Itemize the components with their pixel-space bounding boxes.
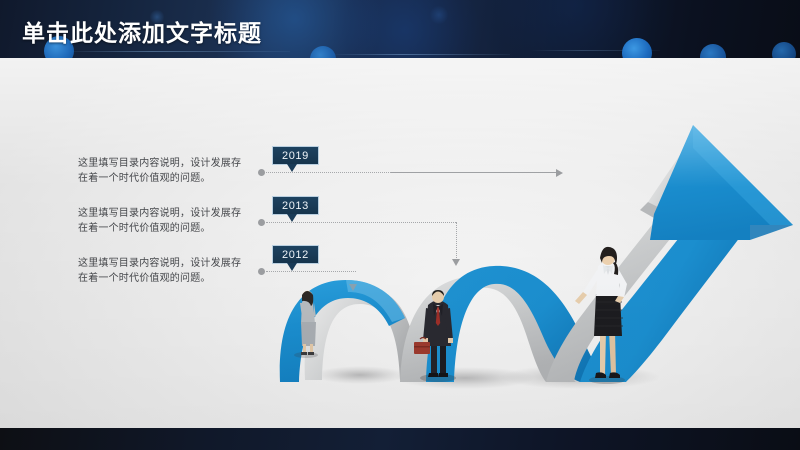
connector-dotted-1	[266, 172, 391, 174]
connector-solid-1	[391, 172, 558, 173]
slide-header: 单击此处添加文字标题	[0, 0, 800, 58]
header-bokeh-2	[310, 46, 336, 58]
year-tag-tail-1	[287, 164, 297, 172]
slide-canvas: 这里填写目录内容说明，设计发展存在着一个时代价值观的问题。 2019 这里填写目…	[0, 0, 800, 450]
header-bokeh-faint-2	[430, 6, 448, 24]
connector-dotted-2	[266, 222, 456, 224]
year-tag-2013[interactable]: 2013	[272, 196, 319, 215]
year-tag-label-2: 2013	[282, 200, 309, 212]
year-tag-tail-3	[287, 263, 297, 271]
year-tag-label-1: 2019	[282, 150, 309, 162]
year-tag-2012[interactable]: 2012	[272, 245, 319, 264]
year-tag-2019[interactable]: 2019	[272, 146, 319, 165]
connector-dot-1	[258, 169, 265, 176]
connector-arrow-down-2	[452, 259, 460, 266]
header-streak-1	[60, 51, 290, 52]
connector-dotted-3	[266, 271, 356, 273]
year-tag-label-3: 2012	[282, 249, 309, 261]
timeline-description-3: 这里填写目录内容说明，设计发展存在着一个时代价值观的问题。	[78, 256, 250, 286]
timeline-description-1: 这里填写目录内容说明，设计发展存在着一个时代价值观的问题。	[78, 156, 250, 186]
slide-footer	[0, 428, 800, 450]
header-bokeh-4	[700, 44, 726, 58]
header-bokeh-5	[772, 42, 796, 58]
timeline-description-2: 这里填写目录内容说明，设计发展存在着一个时代价值观的问题。	[78, 206, 250, 236]
connector-vertical-2	[456, 222, 458, 260]
background-vignette	[0, 58, 800, 428]
header-streak-3	[530, 50, 660, 51]
header-streak-2	[330, 54, 510, 55]
connector-dot-3	[258, 268, 265, 275]
connector-arrow-right-1	[556, 169, 563, 177]
year-tag-tail-2	[287, 214, 297, 222]
connector-arrow-down-3	[349, 284, 357, 291]
page-title: 单击此处添加文字标题	[22, 14, 262, 48]
header-bokeh-3	[622, 38, 652, 58]
header-glow-2	[330, 0, 480, 58]
connector-dot-2	[258, 219, 265, 226]
